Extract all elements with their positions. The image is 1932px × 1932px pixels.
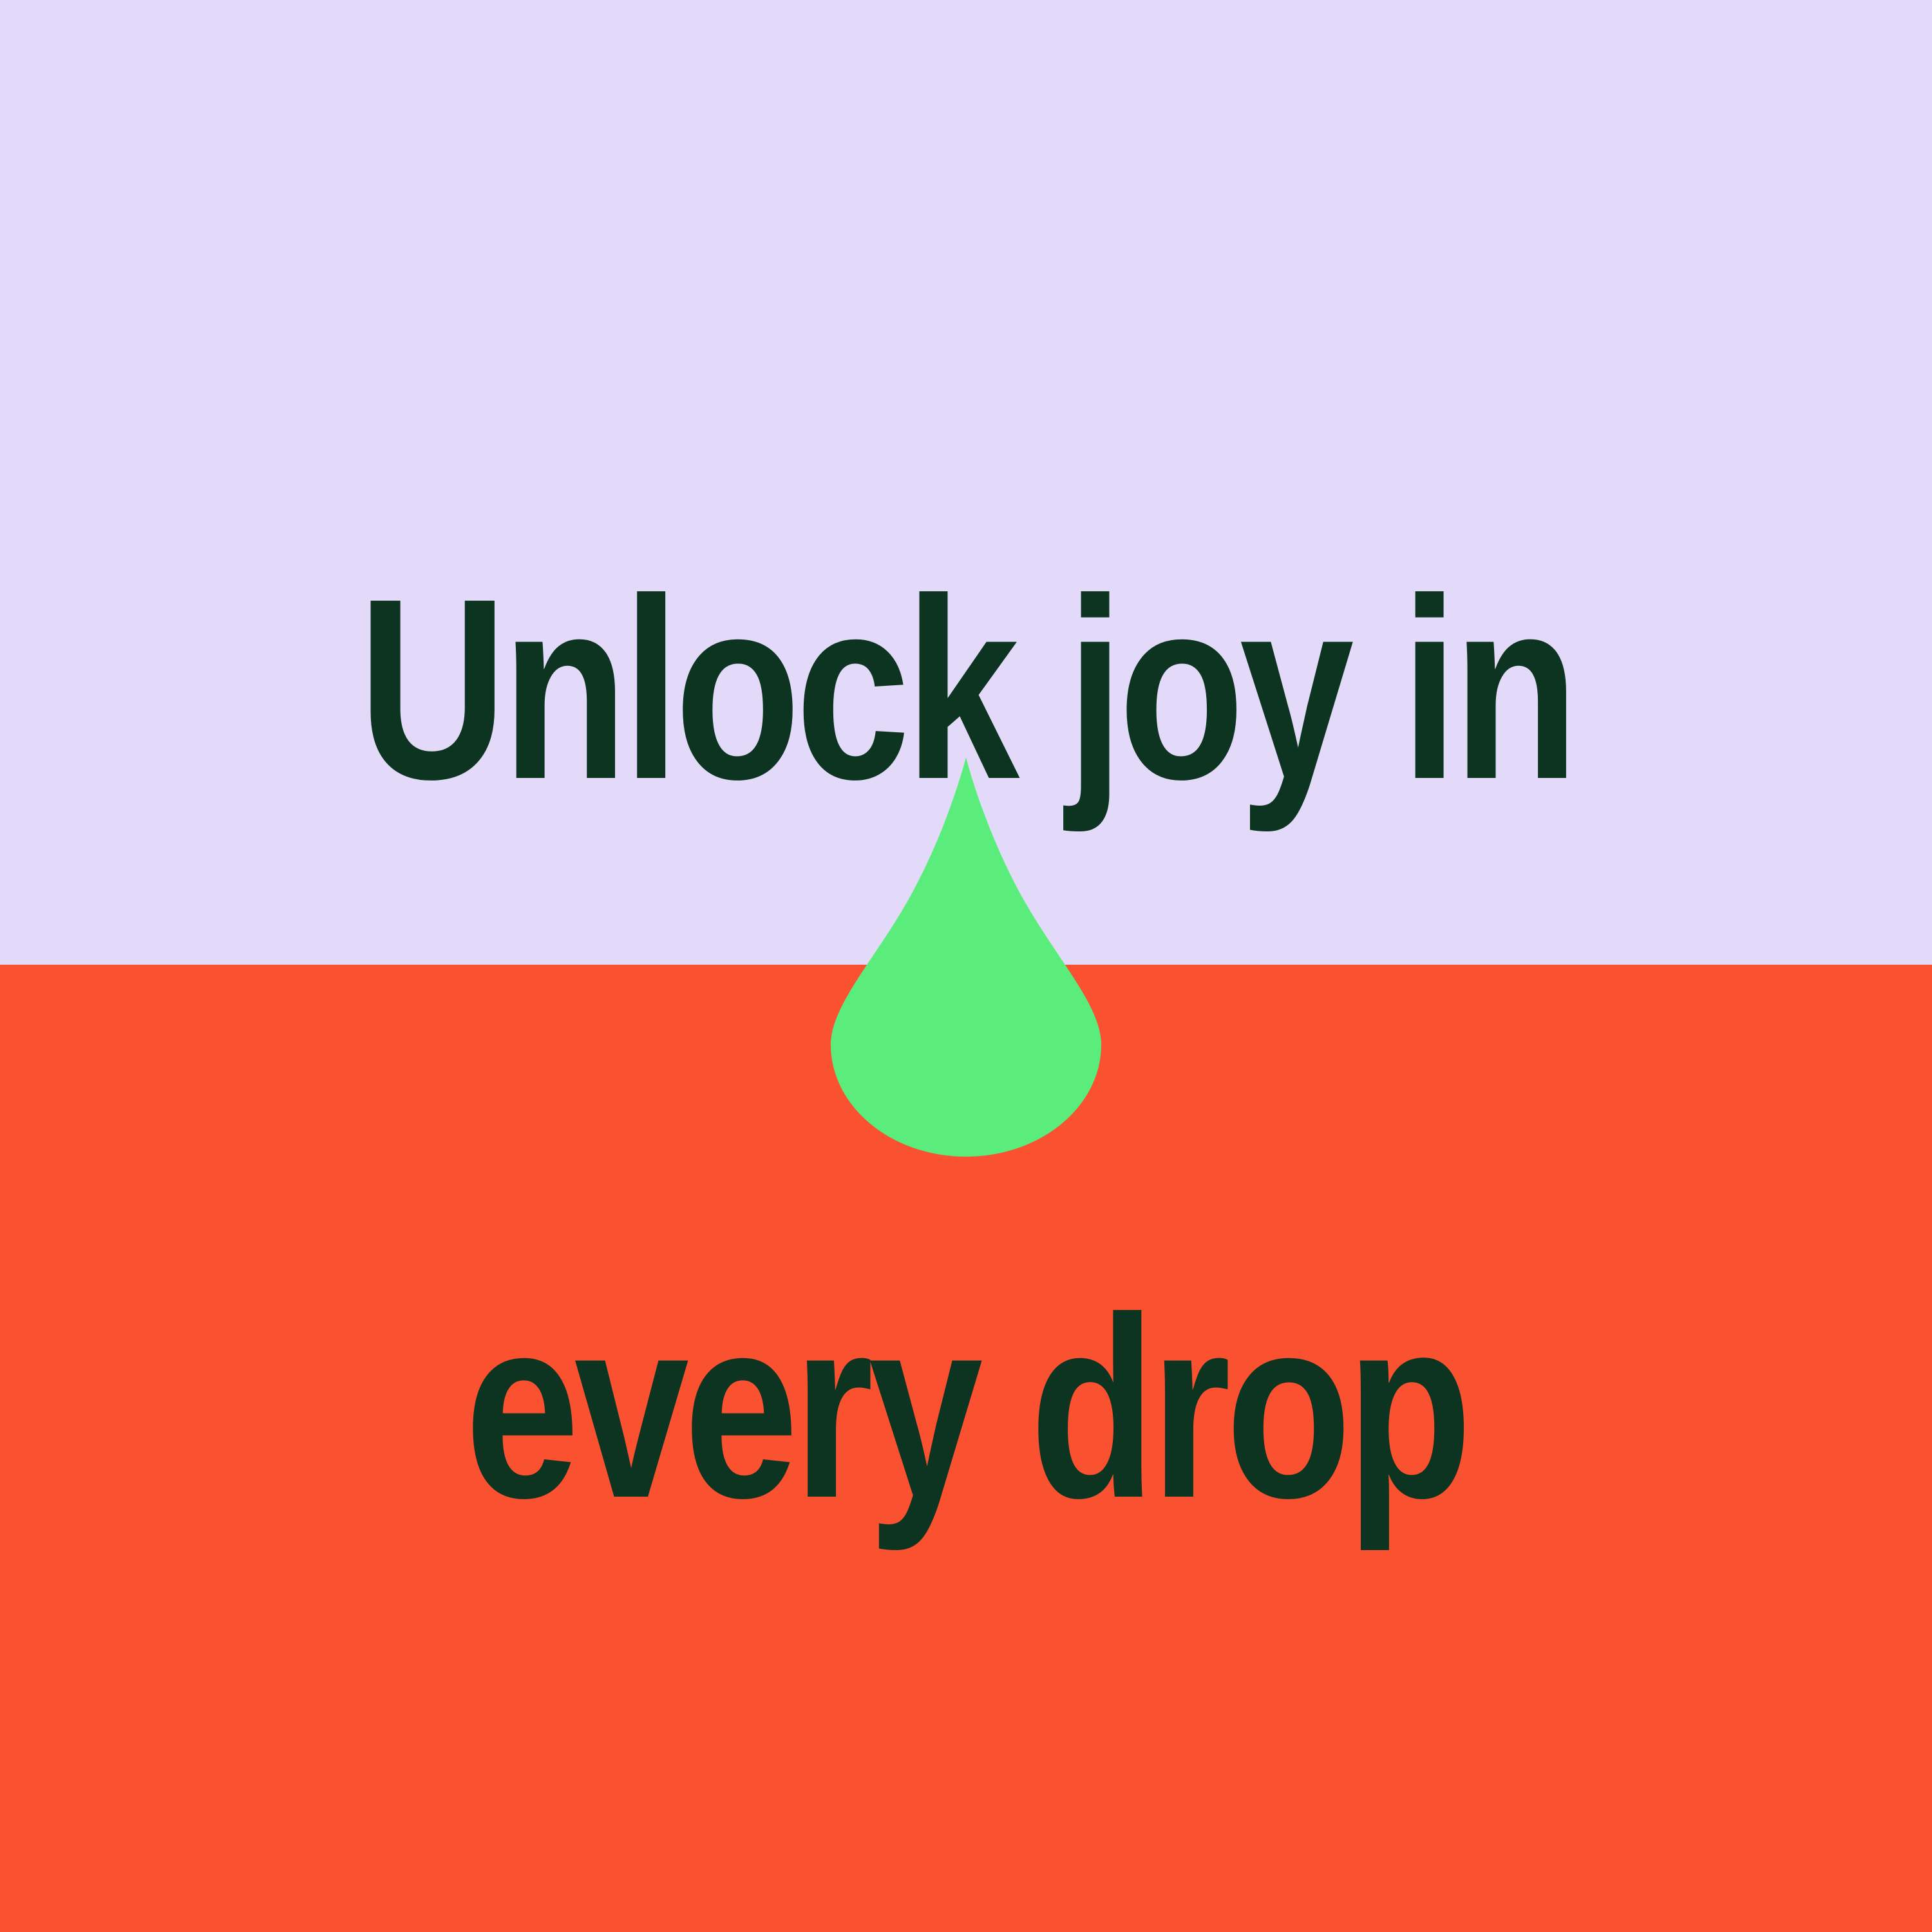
subline-line-1: Plant-based — [270, 1887, 1662, 1932]
subline: Plant-based everyday bliss — [270, 1227, 1662, 1932]
water-drop-icon — [831, 757, 1101, 1157]
poster-canvas: Unlock joy in every drop Plant-based eve… — [0, 0, 1932, 1932]
